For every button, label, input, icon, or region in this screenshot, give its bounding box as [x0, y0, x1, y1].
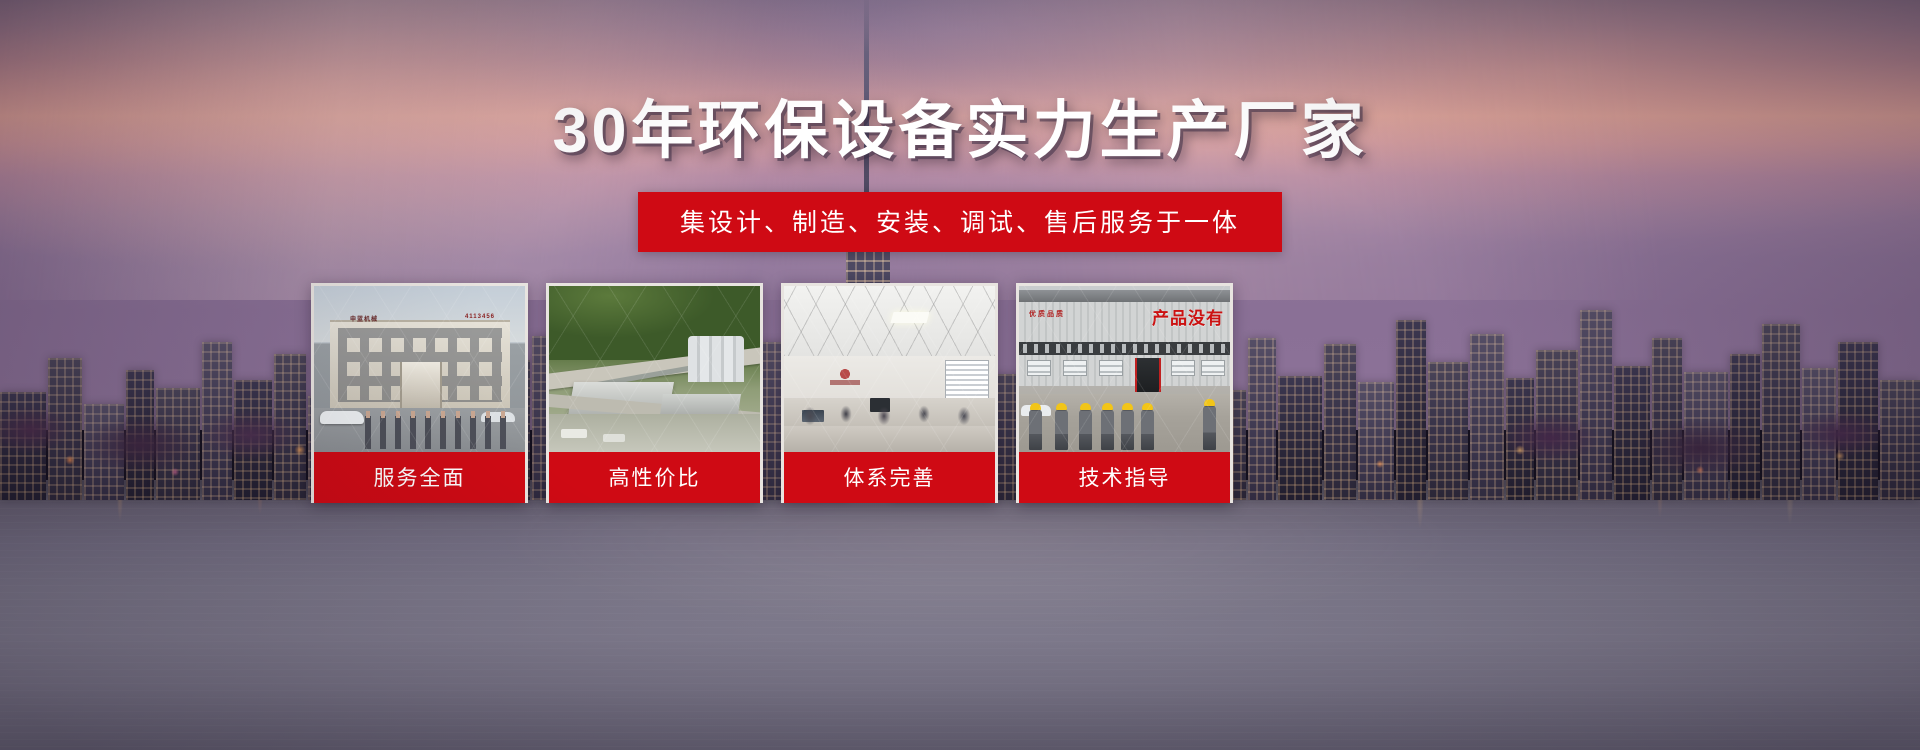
subtitle-banner-wrap: 集设计、制造、安装、调试、售后服务于一体	[0, 192, 1920, 252]
feature-card-row: 申蓝机械 4113456 服务全面	[311, 283, 1233, 503]
wall-logo-icon	[834, 366, 856, 386]
feature-card[interactable]: 高性价比	[546, 283, 763, 503]
feature-card[interactable]: 体系完善	[781, 283, 998, 503]
factory-banner-text: 产品没有	[1152, 304, 1224, 329]
feature-card[interactable]: 申蓝机械 4113456 服务全面	[311, 283, 528, 503]
card-photo-factory-exterior: 优质品质 产品没有	[1019, 286, 1230, 452]
building-sign-left: 申蓝机械	[350, 314, 378, 323]
card-caption: 高性价比	[549, 452, 760, 503]
card-photo-company-building: 申蓝机械 4113456	[314, 286, 525, 452]
hero-banner: 30年环保设备实力生产厂家 集设计、制造、安装、调试、售后服务于一体 申蓝机械 …	[0, 0, 1920, 750]
card-photo-office-interior	[784, 286, 995, 452]
card-photo-industrial-plant	[549, 286, 760, 452]
page-title: 30年环保设备实力生产厂家	[0, 98, 1920, 164]
factory-slogan: 优质品质	[1029, 310, 1065, 321]
card-caption: 技术指导	[1019, 452, 1230, 503]
card-caption: 服务全面	[314, 452, 525, 503]
card-caption: 体系完善	[784, 452, 995, 503]
feature-card[interactable]: 优质品质 产品没有	[1016, 283, 1233, 503]
building-sign-right: 4113456	[465, 314, 495, 320]
subtitle-banner: 集设计、制造、安装、调试、售后服务于一体	[638, 192, 1282, 252]
